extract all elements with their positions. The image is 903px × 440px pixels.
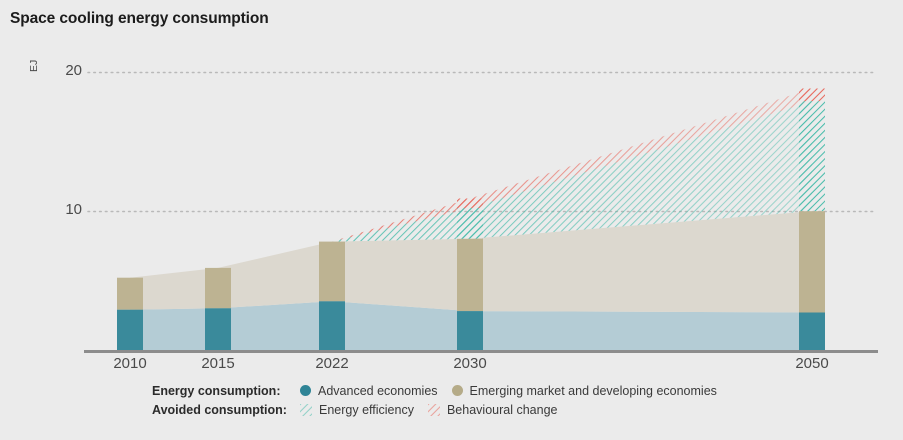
bar-group-2015[interactable] <box>205 268 231 350</box>
bar-2030-energy-efficiency[interactable] <box>457 208 483 239</box>
legend-swatch-emerging-dot-icon <box>452 385 463 396</box>
bar-2050-behavioural-change[interactable] <box>799 89 825 102</box>
chart-root: Space cooling energy consumption EJ 20 1… <box>0 0 903 440</box>
bar-2022-emerging[interactable] <box>319 242 345 302</box>
legend-group-label-consumption: Energy consumption: <box>152 384 300 398</box>
bar-2050-emerging[interactable] <box>799 211 825 312</box>
legend-item-emerging-economies[interactable]: Emerging market and developing economies <box>452 384 717 398</box>
bar-2030-advanced[interactable] <box>457 311 483 350</box>
legend-label-advanced-economies: Advanced economies <box>318 384 438 398</box>
x-tick-2010: 2010 <box>90 355 170 372</box>
bar-group-2022[interactable] <box>319 242 345 350</box>
legend-swatch-behavioural-hatch-icon <box>428 404 440 416</box>
legend-label-emerging-economies: Emerging market and developing economies <box>470 384 717 398</box>
bar-group-2050[interactable] <box>799 89 825 351</box>
legend-group-label-avoided: Avoided consumption: <box>152 403 300 417</box>
bar-2030-behavioural-change[interactable] <box>457 199 483 209</box>
chart-legend: Energy consumption: Advanced economies E… <box>152 381 872 419</box>
bar-group-2010[interactable] <box>117 278 143 350</box>
bar-2015-advanced[interactable] <box>205 308 231 350</box>
x-axis-line <box>84 350 878 353</box>
legend-swatch-efficiency-hatch-icon <box>300 404 312 416</box>
legend-label-energy-efficiency: Energy efficiency <box>319 403 414 417</box>
bar-2030-emerging[interactable] <box>457 239 483 311</box>
bar-group-2030[interactable] <box>457 199 483 351</box>
x-tick-2050: 2050 <box>772 355 852 372</box>
plot-area <box>0 0 903 440</box>
legend-item-advanced-economies[interactable]: Advanced economies <box>300 384 438 398</box>
legend-item-energy-efficiency[interactable]: Energy efficiency <box>300 403 414 417</box>
chart-svg <box>0 0 903 440</box>
legend-item-behavioural-change[interactable]: Behavioural change <box>428 403 558 417</box>
legend-label-behavioural-change: Behavioural change <box>447 403 558 417</box>
bar-2050-energy-efficiency[interactable] <box>799 101 825 211</box>
legend-row-avoided-consumption: Avoided consumption: Energy efficiency B… <box>152 400 872 419</box>
bar-2022-advanced[interactable] <box>319 301 345 350</box>
x-tick-2022: 2022 <box>292 355 372 372</box>
bar-2050-advanced[interactable] <box>799 313 825 351</box>
x-tick-2015: 2015 <box>178 355 258 372</box>
legend-swatch-advanced-dot-icon <box>300 385 311 396</box>
bar-2010-advanced[interactable] <box>117 310 143 350</box>
bar-2010-emerging[interactable] <box>117 278 143 310</box>
bar-2015-emerging[interactable] <box>205 268 231 308</box>
x-tick-2030: 2030 <box>430 355 510 372</box>
legend-row-energy-consumption: Energy consumption: Advanced economies E… <box>152 381 872 400</box>
